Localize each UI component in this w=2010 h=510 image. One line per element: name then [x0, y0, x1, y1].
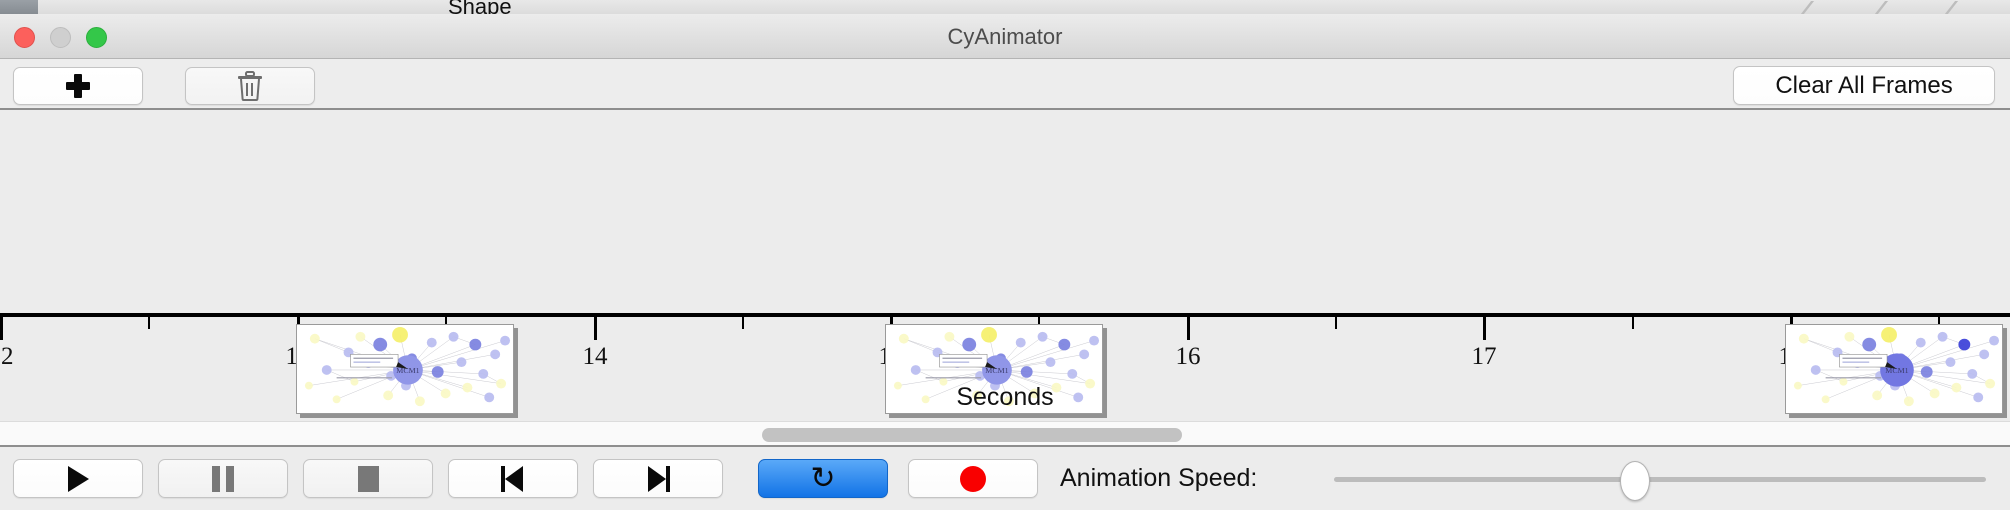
bg-fragment — [258, 0, 399, 14]
axis-tick-label: 17 — [1472, 343, 1497, 371]
stop-icon — [358, 466, 379, 492]
slider-knob[interactable] — [1620, 461, 1650, 501]
title-bar: CyAnimator — [0, 14, 2010, 59]
axis-tick — [1483, 317, 1486, 340]
axis-caption: Seconds — [0, 383, 2010, 412]
scrollbar-thumb[interactable] — [762, 428, 1182, 442]
axis-tick-label: 16 — [1176, 343, 1201, 371]
pause-button[interactable] — [158, 459, 288, 498]
play-button[interactable] — [13, 459, 143, 498]
stop-button[interactable] — [303, 459, 433, 498]
loop-button[interactable]: ↻ — [758, 459, 888, 498]
axis-tick-label: 12 — [0, 343, 14, 371]
bg-fragment — [868, 0, 1129, 14]
pause-icon — [212, 466, 234, 492]
record-icon — [960, 466, 986, 492]
add-frame-button[interactable] — [13, 67, 143, 105]
axis-tick — [1335, 317, 1337, 329]
bg-fragment — [78, 0, 259, 14]
axis-tick — [594, 317, 597, 340]
toolbar: Clear All Frames — [0, 59, 2010, 110]
timeline-panel[interactable]: 12131415161718 MCM1MCM1MCM1 Seconds — [0, 111, 2010, 421]
background-window-strip: Shape — [0, 0, 2010, 14]
skip-to-end-button[interactable] — [593, 459, 723, 498]
bg-fragment — [628, 0, 869, 14]
timeline-scrollbar[interactable] — [0, 421, 2010, 447]
plus-icon — [65, 73, 91, 99]
axis-tick-label: 14 — [583, 343, 608, 371]
skip-backward-icon — [501, 466, 525, 492]
record-button[interactable] — [908, 459, 1038, 498]
skip-forward-icon — [646, 466, 670, 492]
bg-fragment — [398, 0, 629, 14]
axis-tick — [0, 317, 3, 340]
trash-icon — [237, 71, 263, 101]
bg-fragment — [1428, 0, 1729, 14]
axis-tick — [742, 317, 744, 329]
play-icon — [68, 466, 89, 492]
loop-icon: ↻ — [810, 464, 835, 494]
axis-tick — [1632, 317, 1634, 329]
cyanimator-window: Shape CyAnimator Clear All Frames 121314… — [0, 0, 2010, 510]
animation-speed-slider[interactable] — [1334, 477, 1986, 482]
animation-speed-label: Animation Speed: — [1060, 459, 1257, 498]
playback-controls: ↻ Animation Speed: — [0, 447, 2010, 510]
background-shape-label: Shape — [448, 0, 512, 14]
clear-all-frames-button[interactable]: Clear All Frames — [1733, 66, 1995, 105]
window-title: CyAnimator — [0, 14, 2010, 59]
bg-fragment — [1128, 0, 1429, 14]
bg-fragment — [38, 0, 79, 14]
bg-fragment — [0, 0, 39, 14]
axis-tick — [1187, 317, 1190, 340]
skip-to-start-button[interactable] — [448, 459, 578, 498]
axis-tick — [148, 317, 150, 329]
delete-frame-button[interactable] — [185, 67, 315, 105]
timeline-axis — [0, 313, 2010, 317]
